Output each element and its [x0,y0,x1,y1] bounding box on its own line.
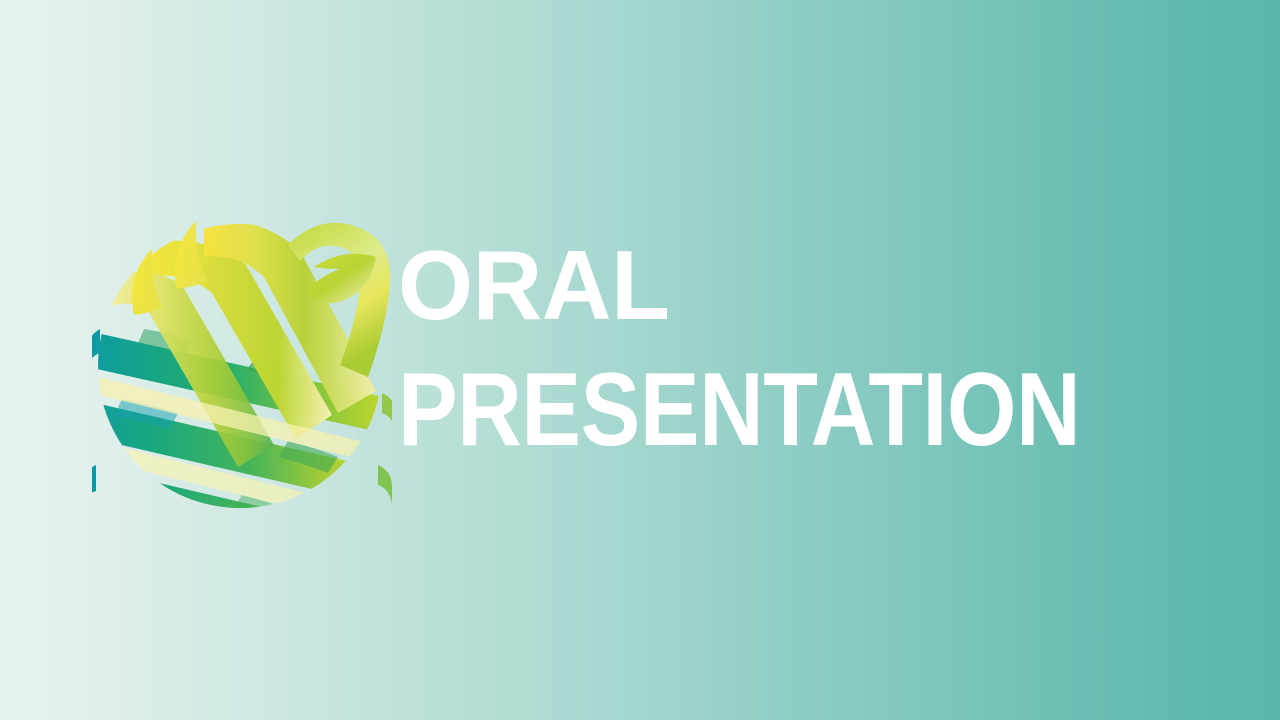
headline-block: ORAL PRESENTATION [398,236,1198,462]
headline-line-oral: ORAL [398,236,1186,334]
ribbon-edges-right [378,393,392,505]
title-slide: ORAL PRESENTATION [0,0,1280,720]
spiral-ribbon-globe-logo [92,203,392,518]
headline-line-presentation: PRESENTATION [398,358,1086,462]
globe-logo-graphic [92,203,392,518]
